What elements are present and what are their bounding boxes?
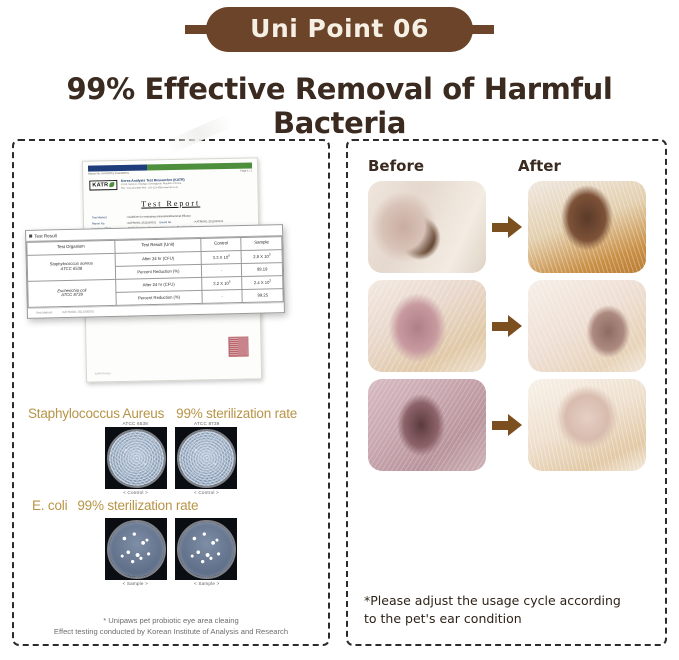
banner-pill: Uni Point 06 [206,7,473,52]
sample-dish-labels: < Sample > < Sample > [14,581,328,586]
cell-sample-cfu: 2.4 X 103 [242,275,283,290]
before-column-label: Before [348,157,500,175]
column-header-sample: Sample [241,237,282,250]
before-after-row-2 [348,280,665,372]
katr-logo-text: KATR [92,182,108,188]
strain-labels: ATCC 6538 ATCC 8739 [14,421,328,426]
ear-photo-after-1 [528,181,646,273]
before-after-headers: Before After [348,141,665,181]
test-result-table: Test Result Test Organism Test Result (U… [25,224,285,319]
usage-note-line-1: *Please adjust the usage cycle according [364,592,621,610]
table-footer-right: KATR0001-2511930001 [62,310,94,315]
ecoli-organism-label: E. coli [32,498,67,513]
dish-label-control-right: < Control > [194,490,219,495]
organism-strain: ATCC 8739 [61,292,83,297]
organization-block: Korea Analysis Test Researcher (KATR) 43… [121,178,185,191]
petri-dish-sample-staph [105,518,167,580]
official-stamp-icon [228,337,248,357]
page-number-header: Page 1 / 1 [240,169,252,172]
cell-sample-cfu: 2.8 X 103 [241,249,282,264]
sample-dish-row [14,518,328,580]
cell-control-reduction: - [202,290,243,303]
petri-dish-control-ecoli [175,427,237,489]
ear-photo-after-2 [528,280,646,372]
ear-photo-before-1 [368,181,486,273]
staph-organism-label: Staphylococcus Aureus [28,406,164,421]
dish-label-sample-left: < Sample > [123,581,149,586]
cell-organism-ecoli: Escherichia coli ATCC 8739 [28,279,117,307]
before-after-row-3 [348,379,665,471]
document-title: Test Report [84,197,258,209]
cell-organism-staph: Staphylococcus aureus ATCC 6538 [27,253,116,281]
lab-footnote: * Unipaws pet probiotic eye area cleaing… [14,615,328,637]
report-number-header: Report No. KATR0001-2511930001 [88,172,129,176]
strain-label-right: ATCC 8739 [194,421,219,426]
organism-strain: ATCC 6538 [61,266,83,271]
cell-sample-reduction: 99.25 [242,289,283,302]
arrow-right-icon [492,414,522,436]
meta-value-issued-no: KATR0001-2511930001 [195,220,224,224]
cell-control-reduction: - [201,264,242,277]
usage-note: *Please adjust the usage cycle according… [364,592,621,628]
certificate-area: Report No. KATR0001-2511930001 Page 1 / … [18,147,324,402]
dish-label-sample-right: < Sample > [194,581,220,586]
katr-logo: KATR [89,180,117,191]
after-column-label: After [500,157,561,175]
document-logo-row: KATR Korea Analysis Test Researcher (KAT… [89,176,251,191]
footnote-line-1: * Unipaws pet probiotic eye area cleaing [14,615,328,626]
staph-rate-label: 99% sterilization rate [176,406,297,421]
ecoli-caption-row: E. coli 99% sterilization rate [14,498,328,513]
cell-control-cfu: 3.2 X 105 [201,276,242,291]
usage-note-line-2: to the pet's ear condition [364,610,621,628]
arrow-right-icon [492,216,522,238]
banner-label: Uni Point 06 [250,14,429,43]
ear-photo-before-2 [368,280,486,372]
meta-value-test-method: Guideline for evaluating antiviral/antib… [127,215,190,219]
control-dish-block: ATCC 6538 ATCC 8739 < Control > < Contro… [14,421,328,495]
petri-dish-sample-ecoli [175,518,237,580]
footnote-line-2: Effect testing conducted by Korean Insti… [14,626,328,637]
cell-control-cfu: 3.3 X 105 [201,250,242,265]
ear-photo-before-3 [368,379,486,471]
organization-contact: TEL : 031-123-4567 FAX : 031-123-4568 ww… [121,186,185,191]
sample-dish-block: < Sample > < Sample > [14,518,328,586]
page-title: 99% Effective Removal of Harmful Bacteri… [0,72,679,140]
lab-evidence-panel: Report No. KATR0001-2511930001 Page 1 / … [12,139,330,646]
before-after-panel: Before After *Please adjust the usage cy… [346,139,667,646]
content-panels: Report No. KATR0001-2511930001 Page 1 / … [12,139,667,646]
document-footnote: KATR-FO-0601 [95,373,111,375]
meta-value-report-no: KATR0001-2511930001 [128,221,157,225]
strain-label-left: ATCC 6538 [123,421,148,426]
petri-dish-control-staph [105,427,167,489]
control-dish-labels: < Control > < Control > [14,490,328,495]
banner: Uni Point 06 [0,0,679,58]
ear-photo-after-3 [528,379,646,471]
control-dish-row [14,427,328,489]
before-after-row-1 [348,181,665,273]
table-footer-left: Test Method [36,311,52,315]
column-header-control: Control [201,238,242,251]
ecoli-rate-label: 99% sterilization rate [77,498,198,513]
arrow-right-icon [492,315,522,337]
cell-sample-reduction: 99.19 [242,263,283,276]
dish-label-control-left: < Control > [123,490,148,495]
leaf-icon [109,182,114,187]
staph-caption-row: Staphylococcus Aureus 99% sterilization … [14,406,328,421]
